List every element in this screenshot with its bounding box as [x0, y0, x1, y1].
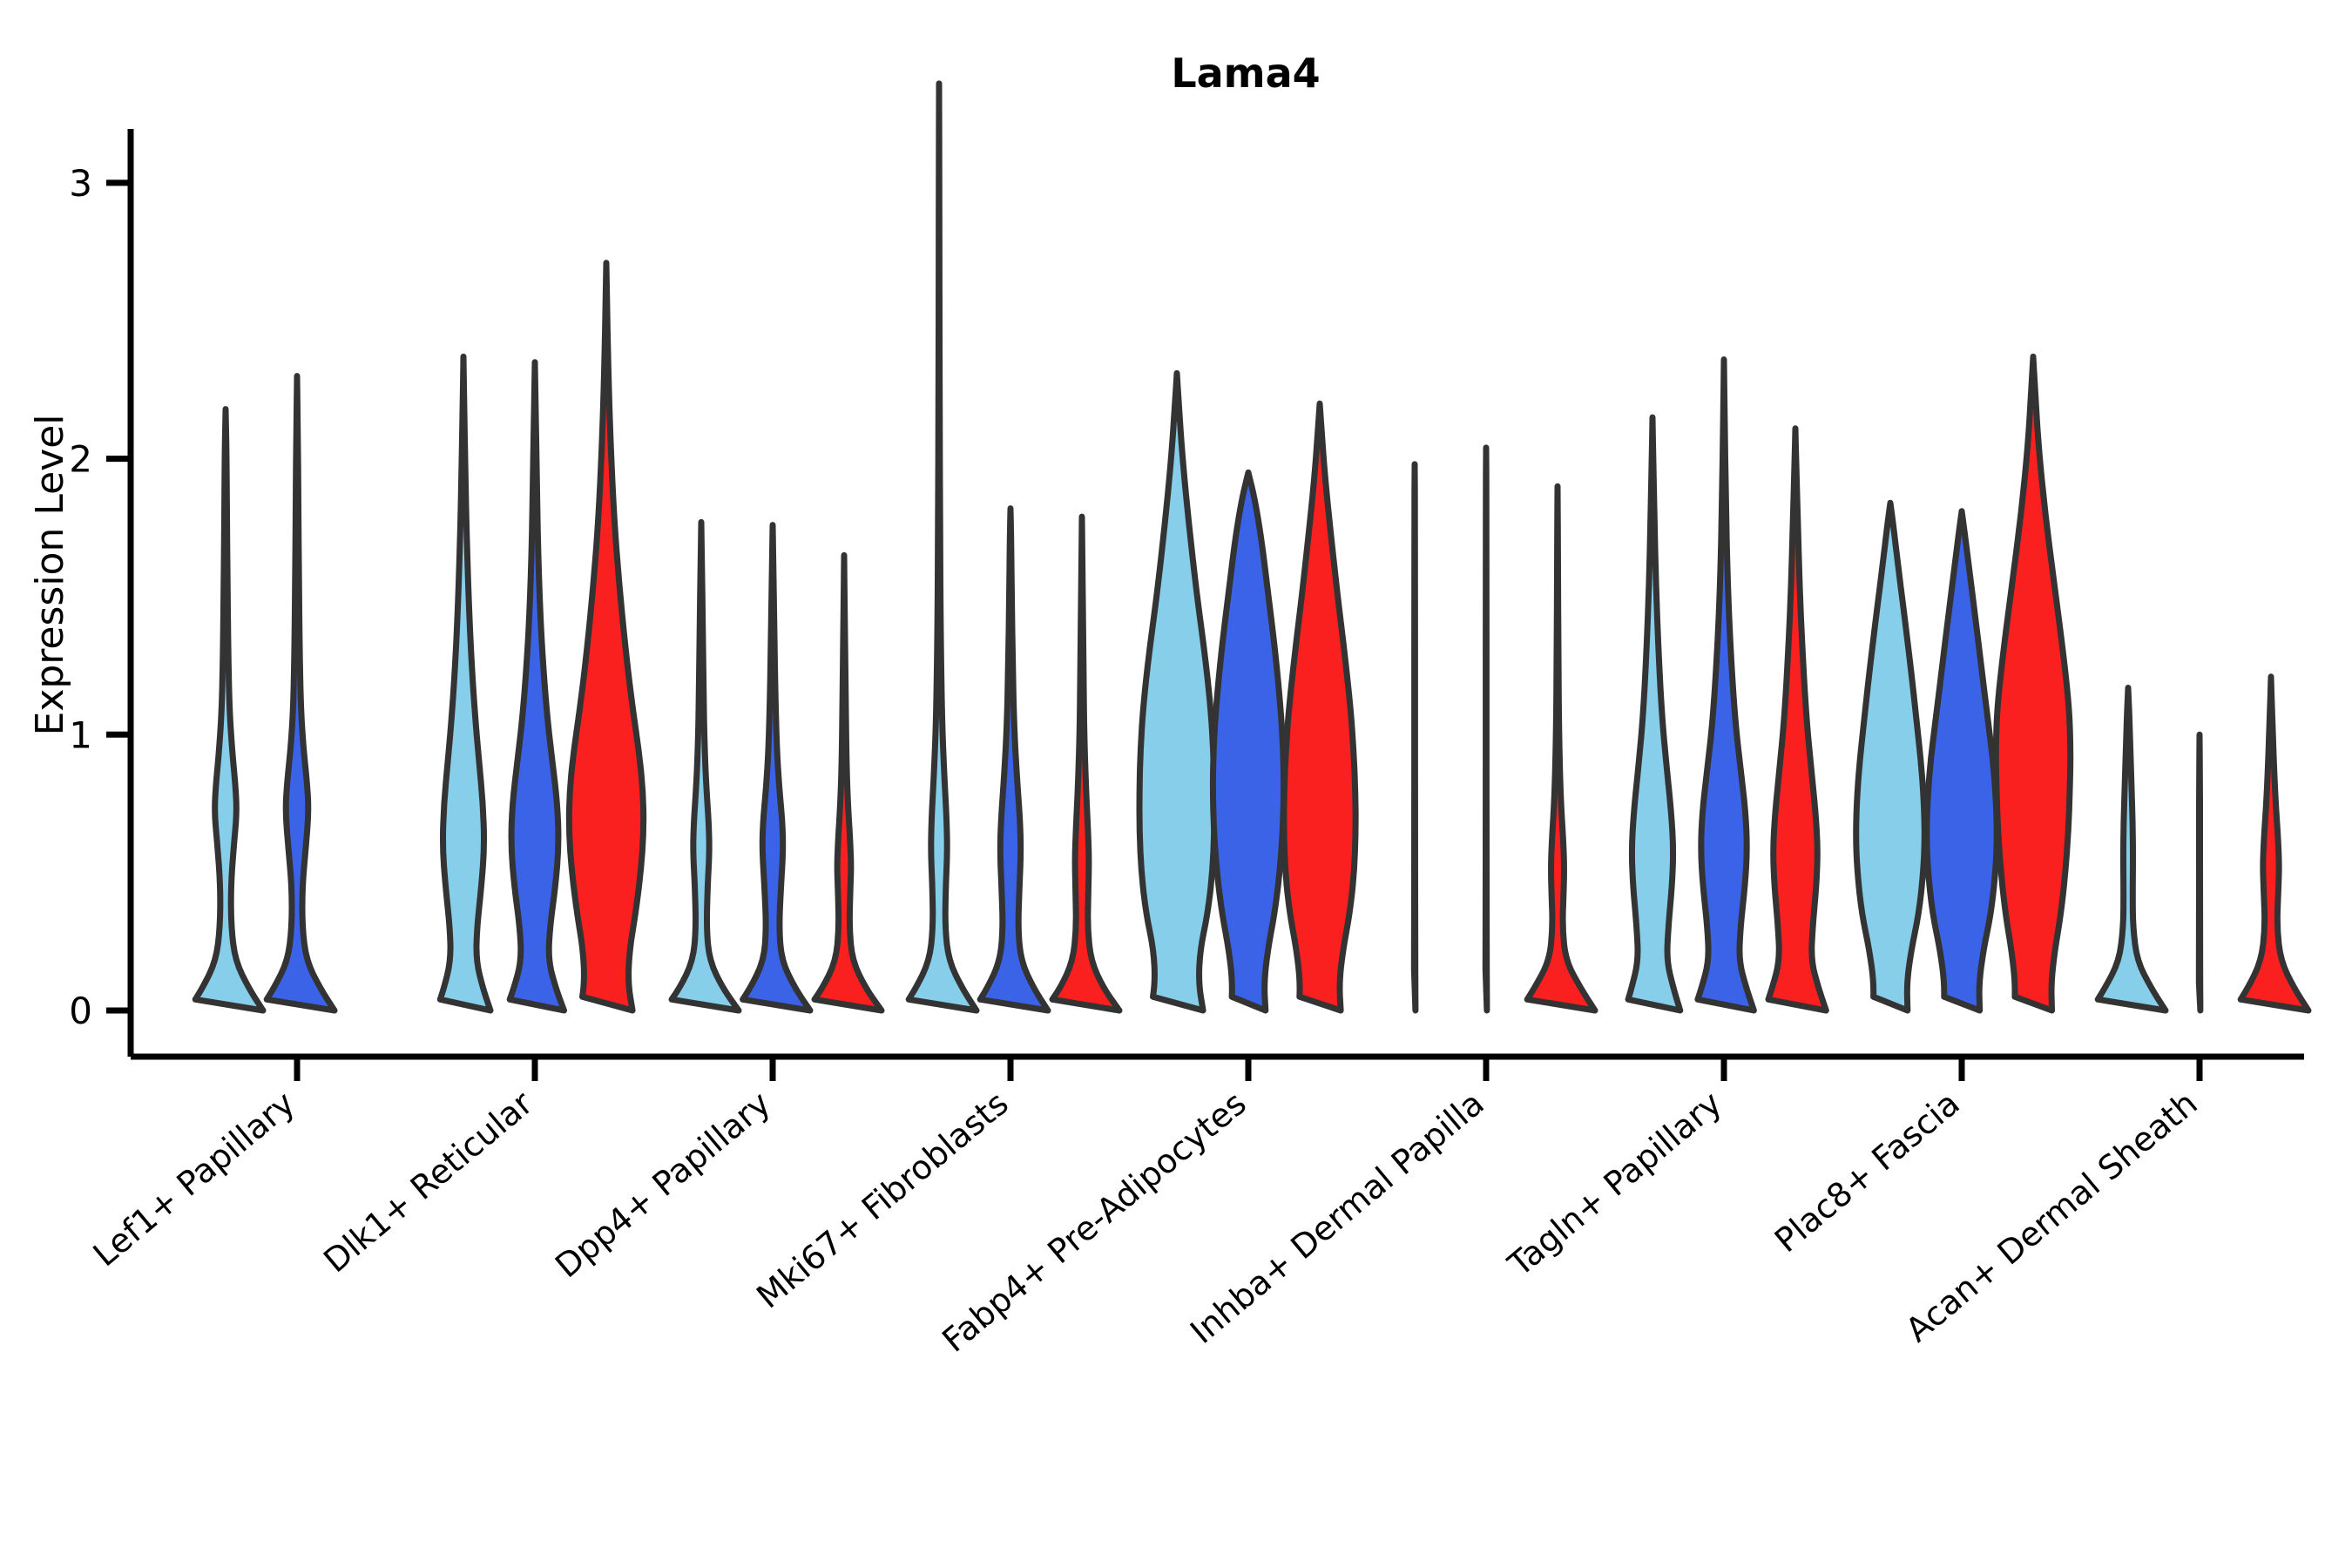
violin-plot-figure: Lama4 Expression Level 0123 Lef1+ Papill… [0, 0, 2352, 1568]
violin-shape [2199, 734, 2200, 1010]
y-tick-label: 3 [69, 162, 92, 205]
violin-shape [1414, 464, 1416, 1010]
page-title: Lama4 [1171, 50, 1320, 97]
y-axis-label: Expression Level [28, 415, 72, 736]
y-tick-label: 1 [69, 713, 92, 756]
plot-canvas: Lama4 Expression Level 0123 Lef1+ Papill… [0, 0, 2352, 1568]
violin-shape [1485, 448, 1487, 1010]
y-tick-label: 0 [69, 990, 92, 1032]
y-tick-label: 2 [69, 438, 92, 481]
